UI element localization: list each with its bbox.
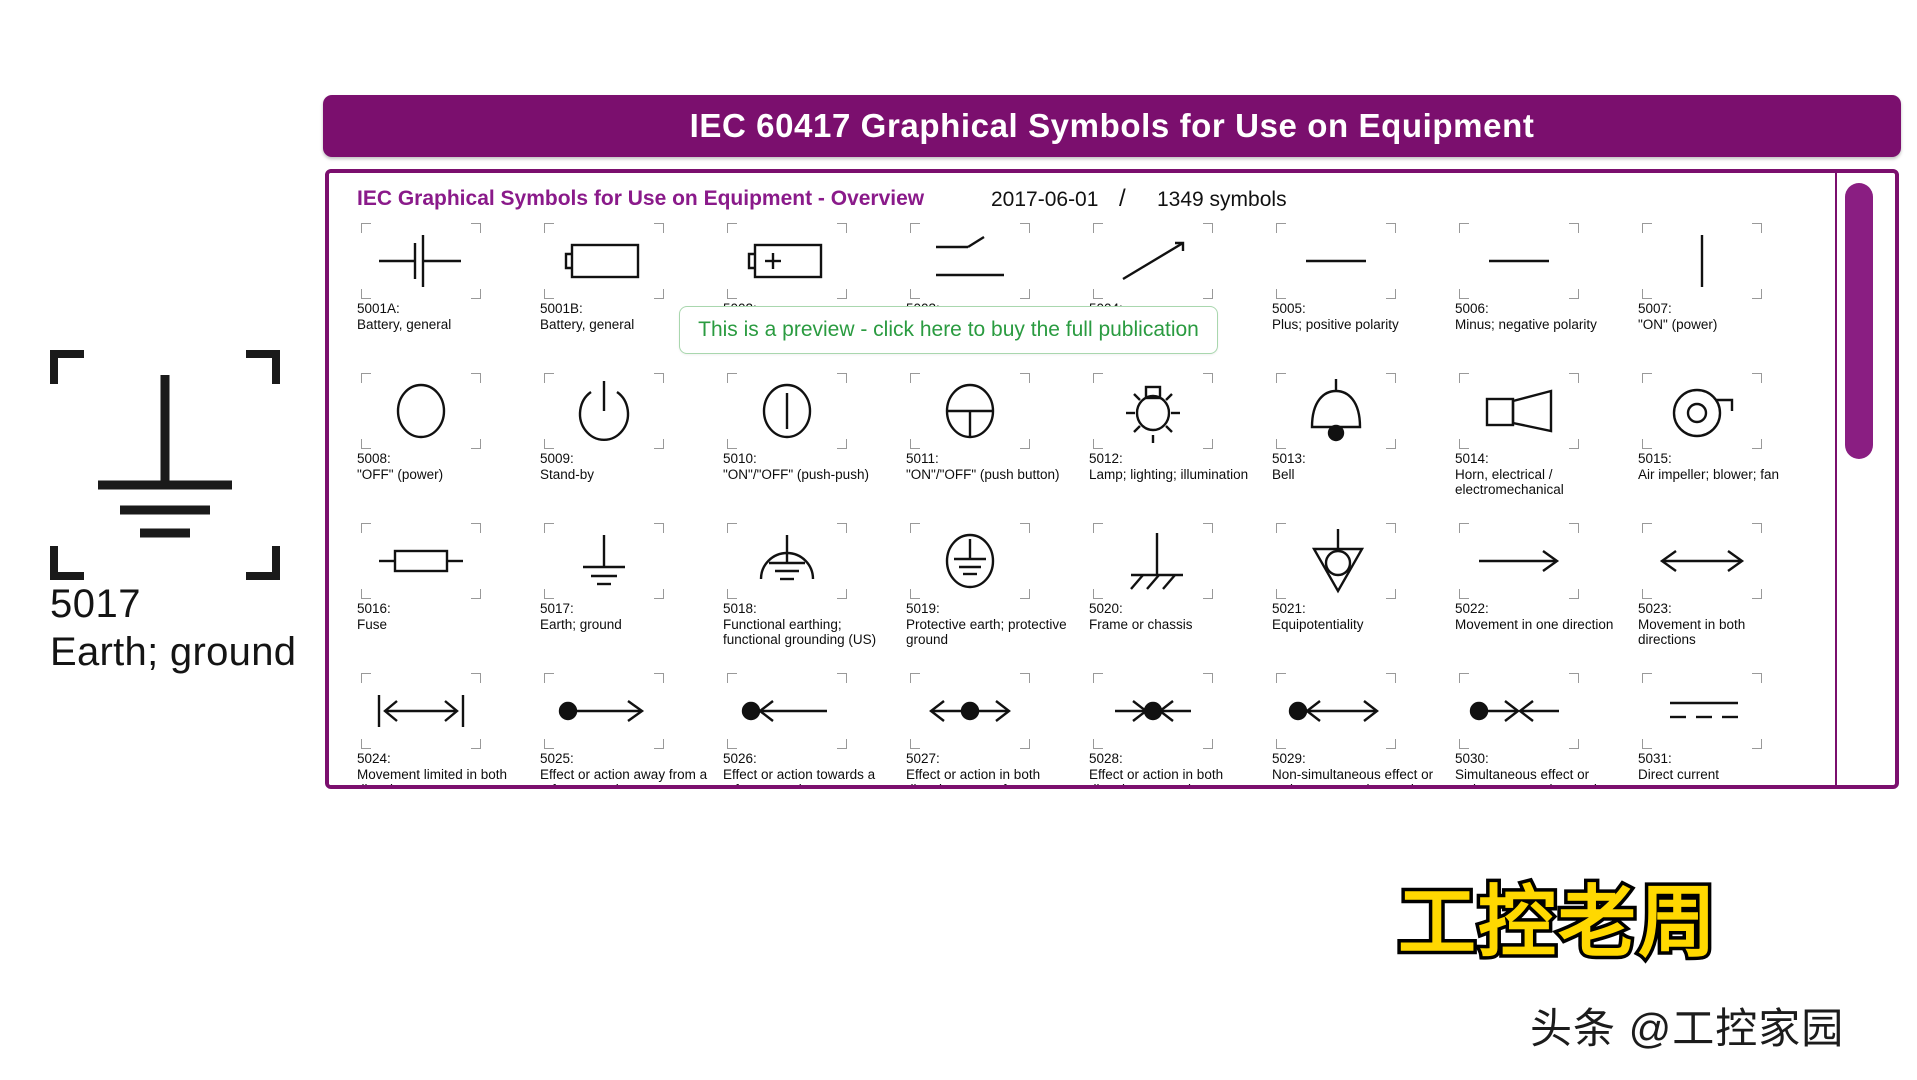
vertical-scrollbar[interactable]: [1835, 173, 1893, 785]
symbol-code: 5008:: [357, 451, 525, 467]
symbol-cell[interactable]: 5007:"ON" (power): [1638, 223, 1806, 332]
symbol-code: 5017:: [540, 601, 708, 617]
earth-ground-icon: [544, 523, 664, 599]
symbol-cell[interactable]: 5021:Equipotentiality: [1272, 523, 1440, 632]
symbol-label: 5010:"ON"/"OFF" (push-push): [723, 451, 891, 482]
symbol-code: 5012:: [1089, 451, 1257, 467]
symbol-cell[interactable]: 5025:Effect or action away from a refere…: [540, 673, 708, 785]
symbol-cell[interactable]: 5006:Minus; negative polarity: [1455, 223, 1623, 332]
document-header: IEC Graphical Symbols for Use on Equipme…: [357, 187, 1807, 217]
symbol-code: 5027:: [906, 751, 1074, 767]
symbol-code: 5020:: [1089, 601, 1257, 617]
symbol-row: 5016:Fuse5017:Earth; ground5018:Function…: [357, 523, 1817, 673]
symbol-frame: [1093, 673, 1213, 749]
symbol-description: Effect or action towards a reference poi…: [723, 767, 891, 786]
symbol-code: 5019:: [906, 601, 1074, 617]
symbol-description: Earth; ground: [540, 617, 708, 633]
simultaneous-effect-icon: [1459, 673, 1579, 749]
symbol-cell[interactable]: 5008:"OFF" (power): [357, 373, 525, 482]
symbol-description: "OFF" (power): [357, 467, 525, 483]
symbol-label: 5006:Minus; negative polarity: [1455, 301, 1623, 332]
symbol-label: 5025:Effect or action away from a refere…: [540, 751, 708, 785]
symbol-frame: [361, 523, 481, 599]
battery-box-icon: [544, 223, 664, 299]
symbol-description: Air impeller; blower; fan: [1638, 467, 1806, 483]
symbol-description: Effect or action away from a reference p…: [540, 767, 708, 786]
symbol-frame: [727, 223, 847, 299]
symbol-row: 5008:"OFF" (power)5009:Stand-by5010:"ON"…: [357, 373, 1817, 523]
standby-icon: [544, 373, 664, 449]
symbol-label: 5030:Simultaneous effect or action away …: [1455, 751, 1623, 785]
effect-towards-icon: [727, 673, 847, 749]
symbol-code: 5030:: [1455, 751, 1623, 767]
symbol-frame: [1093, 223, 1213, 299]
protective-earth-icon: [910, 523, 1030, 599]
symbol-frame: [1459, 373, 1579, 449]
symbol-frame: [361, 223, 481, 299]
lamp-icon: [1093, 373, 1213, 449]
symbol-cell[interactable]: 5019:Protective earth; protective ground: [906, 523, 1074, 648]
symbol-description: Minus; negative polarity: [1455, 317, 1623, 333]
symbol-description: Movement limited in both directions: [357, 767, 525, 786]
symbol-label: 5009:Stand-by: [540, 451, 708, 482]
movement-both-directions-icon: [1642, 523, 1762, 599]
symbol-frame: [727, 673, 847, 749]
document-panel: IEC 60417 Graphical Symbols for Use on E…: [323, 95, 1901, 795]
symbol-cell[interactable]: 5017:Earth; ground: [540, 523, 708, 632]
direct-current-icon: [1642, 673, 1762, 749]
symbol-code: 5001A:: [357, 301, 525, 317]
air-impeller-icon: [1642, 373, 1762, 449]
symbol-code: 5011:: [906, 451, 1074, 467]
symbol-frame: [544, 373, 664, 449]
symbol-label: 5008:"OFF" (power): [357, 451, 525, 482]
symbol-cell[interactable]: 5024:Movement limited in both directions: [357, 673, 525, 785]
symbol-cell[interactable]: 5030:Simultaneous effect or action away …: [1455, 673, 1623, 785]
symbol-cell[interactable]: 5026:Effect or action towards a referenc…: [723, 673, 891, 785]
on-off-push-button-icon: [910, 373, 1030, 449]
symbol-label: 5018:Functional earthing; functional gro…: [723, 601, 891, 648]
minus-polarity-icon: [1459, 223, 1579, 299]
functional-earthing-icon: [727, 523, 847, 599]
watermark-subtitle: 头条 @工控家园: [1530, 995, 1844, 1056]
symbol-code: 5016:: [357, 601, 525, 617]
symbol-description: Frame or chassis: [1089, 617, 1257, 633]
document-separator: /: [1119, 185, 1126, 213]
earth-ground-icon: [50, 350, 280, 580]
symbol-description: Lamp; lighting; illumination: [1089, 467, 1257, 483]
symbol-frame: [1276, 673, 1396, 749]
symbol-cell[interactable]: 5022:Movement in one direction: [1455, 523, 1623, 632]
symbol-description: Fuse: [357, 617, 525, 633]
symbol-code: 5028:: [1089, 751, 1257, 767]
symbol-cell[interactable]: 5013:Bell: [1272, 373, 1440, 482]
symbol-label: 5015:Air impeller; blower; fan: [1638, 451, 1806, 482]
symbol-description: Protective earth; protective ground: [906, 617, 1074, 648]
symbol-code: 5022:: [1455, 601, 1623, 617]
symbol-cell[interactable]: 5009:Stand-by: [540, 373, 708, 482]
document-subtitle: IEC Graphical Symbols for Use on Equipme…: [357, 187, 924, 211]
symbol-code: 5010:: [723, 451, 891, 467]
symbol-code: 5031:: [1638, 751, 1806, 767]
effect-away-icon: [544, 673, 664, 749]
symbol-description: Equipotentiality: [1272, 617, 1440, 633]
symbol-label: 5012:Lamp; lighting; illumination: [1089, 451, 1257, 482]
movement-limited-icon: [361, 673, 481, 749]
symbol-label: 5029:Non-simultaneous effect or action a…: [1272, 751, 1440, 785]
battery-cell-icon: [361, 223, 481, 299]
symbol-cell[interactable]: 5028:Effect or action in both directions…: [1089, 673, 1257, 785]
symbol-label: 5014:Horn, electrical / electromechanica…: [1455, 451, 1623, 498]
movement-one-direction-icon: [1459, 523, 1579, 599]
hero-symbol-panel: 5017 Earth; ground: [45, 330, 335, 730]
symbol-code: 5021:: [1272, 601, 1440, 617]
hero-symbol-name: Earth; ground: [50, 630, 296, 675]
symbol-cell[interactable]: 5023:Movement in both directions: [1638, 523, 1806, 648]
symbol-cell[interactable]: 5029:Non-simultaneous effect or action a…: [1272, 673, 1440, 785]
effect-both-towards-icon: [1093, 673, 1213, 749]
pdf-page: IEC Graphical Symbols for Use on Equipme…: [329, 173, 1837, 785]
ac-dc-converter-icon: [910, 223, 1030, 299]
symbol-code: 5009:: [540, 451, 708, 467]
horn-icon: [1459, 373, 1579, 449]
symbol-label: 5019:Protective earth; protective ground: [906, 601, 1074, 648]
symbol-cell[interactable]: 5018:Functional earthing; functional gro…: [723, 523, 891, 648]
preview-purchase-banner[interactable]: This is a preview - click here to buy th…: [679, 306, 1218, 354]
symbol-cell[interactable]: 5027:Effect or action in both directions…: [906, 673, 1074, 785]
equipotentiality-icon: [1276, 523, 1396, 599]
symbol-label: 5013:Bell: [1272, 451, 1440, 482]
symbol-cell[interactable]: 5012:Lamp; lighting; illumination: [1089, 373, 1257, 482]
fuse-icon: [361, 523, 481, 599]
bell-icon: [1276, 373, 1396, 449]
symbol-cell[interactable]: 5020:Frame or chassis: [1089, 523, 1257, 632]
symbol-frame: [1459, 523, 1579, 599]
symbol-description: Plus; positive polarity: [1272, 317, 1440, 333]
symbol-description: Direct current: [1638, 767, 1806, 783]
document-date: 2017-06-01: [991, 188, 1098, 212]
symbol-frame: [1276, 523, 1396, 599]
symbol-code: 5007:: [1638, 301, 1806, 317]
symbol-cell[interactable]: 5001A:Battery, general: [357, 223, 525, 332]
symbol-frame: [544, 523, 664, 599]
symbol-frame: [727, 373, 847, 449]
symbol-frame: [1276, 373, 1396, 449]
on-off-push-push-icon: [727, 373, 847, 449]
pdf-viewer[interactable]: IEC Graphical Symbols for Use on Equipme…: [325, 169, 1899, 789]
document-symbol-count: 1349 symbols: [1157, 188, 1287, 212]
symbol-cell[interactable]: 5010:"ON"/"OFF" (push-push): [723, 373, 891, 482]
symbol-description: Non-simultaneous effect or action away a…: [1272, 767, 1440, 786]
symbol-code: 5025:: [540, 751, 708, 767]
symbol-description: "ON"/"OFF" (push button): [906, 467, 1074, 483]
symbol-description: Functional earthing; functional groundin…: [723, 617, 891, 648]
symbol-description: Bell: [1272, 467, 1440, 483]
window-title-bar: IEC 60417 Graphical Symbols for Use on E…: [323, 95, 1901, 157]
symbol-cell[interactable]: 5031:Direct current: [1638, 673, 1806, 782]
symbol-description: "ON" (power): [1638, 317, 1806, 333]
symbol-description: Movement in both directions: [1638, 617, 1806, 648]
symbol-code: 5005:: [1272, 301, 1440, 317]
positioning-of-cell-icon: [727, 223, 847, 299]
symbol-label: 5022:Movement in one direction: [1455, 601, 1623, 632]
symbol-label: 5011:"ON"/"OFF" (push button): [906, 451, 1074, 482]
off-power-icon: [361, 373, 481, 449]
symbol-code: 5006:: [1455, 301, 1623, 317]
symbol-description: Effect or action in both directions away…: [906, 767, 1074, 786]
frame-chassis-icon: [1093, 523, 1213, 599]
symbol-description: Horn, electrical / electromechanical: [1455, 467, 1623, 498]
symbol-code: 5029:: [1272, 751, 1440, 767]
symbol-label: 5031:Direct current: [1638, 751, 1806, 782]
symbol-frame: [544, 673, 664, 749]
symbol-label: 5016:Fuse: [357, 601, 525, 632]
symbol-frame: [1642, 523, 1762, 599]
symbol-label: 5017:Earth; ground: [540, 601, 708, 632]
symbol-code: 5026:: [723, 751, 891, 767]
symbol-frame: [1642, 673, 1762, 749]
symbol-label: 5001A:Battery, general: [357, 301, 525, 332]
symbol-label: 5026:Effect or action towards a referenc…: [723, 751, 891, 785]
symbol-code: 5013:: [1272, 451, 1440, 467]
symbol-frame: [727, 523, 847, 599]
symbol-cell[interactable]: 5014:Horn, electrical / electromechanica…: [1455, 373, 1623, 498]
plus-polarity-icon: [1276, 223, 1396, 299]
symbol-frame: [1093, 523, 1213, 599]
on-power-icon: [1642, 223, 1762, 299]
symbol-label: 5005:Plus; positive polarity: [1272, 301, 1440, 332]
symbol-frame: [1276, 223, 1396, 299]
window-title: IEC 60417 Graphical Symbols for Use on E…: [690, 107, 1535, 145]
symbol-label: 5023:Movement in both directions: [1638, 601, 1806, 648]
effect-both-away-icon: [910, 673, 1030, 749]
symbol-frame: [910, 223, 1030, 299]
symbol-description: Stand-by: [540, 467, 708, 483]
symbol-code: 5018:: [723, 601, 891, 617]
symbol-frame: [910, 523, 1030, 599]
symbol-cell[interactable]: 5016:Fuse: [357, 523, 525, 632]
symbol-row: 5024:Movement limited in both directions…: [357, 673, 1817, 785]
symbol-cell[interactable]: 5011:"ON"/"OFF" (push button): [906, 373, 1074, 482]
symbol-frame: [1093, 373, 1213, 449]
symbol-description: Simultaneous effect or action away and t…: [1455, 767, 1623, 786]
symbol-frame: [910, 373, 1030, 449]
symbol-description: "ON"/"OFF" (push-push): [723, 467, 891, 483]
symbol-label: 5024:Movement limited in both directions: [357, 751, 525, 785]
symbol-frame: [1642, 373, 1762, 449]
symbol-code: 5014:: [1455, 451, 1623, 467]
screenshot-root: 5017 Earth; ground IEC 60417 Graphical S…: [0, 0, 1917, 1080]
symbol-description: Movement in one direction: [1455, 617, 1623, 633]
symbol-cell[interactable]: 5015:Air impeller; blower; fan: [1638, 373, 1806, 482]
symbol-label: 5027:Effect or action in both directions…: [906, 751, 1074, 785]
hero-symbol-code: 5017: [50, 582, 141, 627]
non-simultaneous-effect-icon: [1276, 673, 1396, 749]
hero-symbol-frame: [50, 350, 280, 580]
symbol-frame: [1642, 223, 1762, 299]
symbol-description: Effect or action in both directions towa…: [1089, 767, 1257, 786]
symbol-code: 5023:: [1638, 601, 1806, 617]
scrollbar-thumb[interactable]: [1845, 183, 1873, 459]
symbol-frame: [361, 673, 481, 749]
variability-icon: [1093, 223, 1213, 299]
symbol-code: 5015:: [1638, 451, 1806, 467]
symbol-label: 5028:Effect or action in both directions…: [1089, 751, 1257, 785]
symbol-label: 5020:Frame or chassis: [1089, 601, 1257, 632]
symbol-label: 5007:"ON" (power): [1638, 301, 1806, 332]
symbol-frame: [1459, 673, 1579, 749]
preview-banner-label: This is a preview - click here to buy th…: [698, 318, 1199, 342]
symbol-frame: [1459, 223, 1579, 299]
symbol-frame: [361, 373, 481, 449]
watermark-main: 工控老周: [1398, 860, 1718, 972]
symbol-code: 5024:: [357, 751, 525, 767]
symbol-description: Battery, general: [357, 317, 525, 333]
symbol-frame: [910, 673, 1030, 749]
symbol-frame: [544, 223, 664, 299]
symbol-cell[interactable]: 5005:Plus; positive polarity: [1272, 223, 1440, 332]
symbol-label: 5021:Equipotentiality: [1272, 601, 1440, 632]
